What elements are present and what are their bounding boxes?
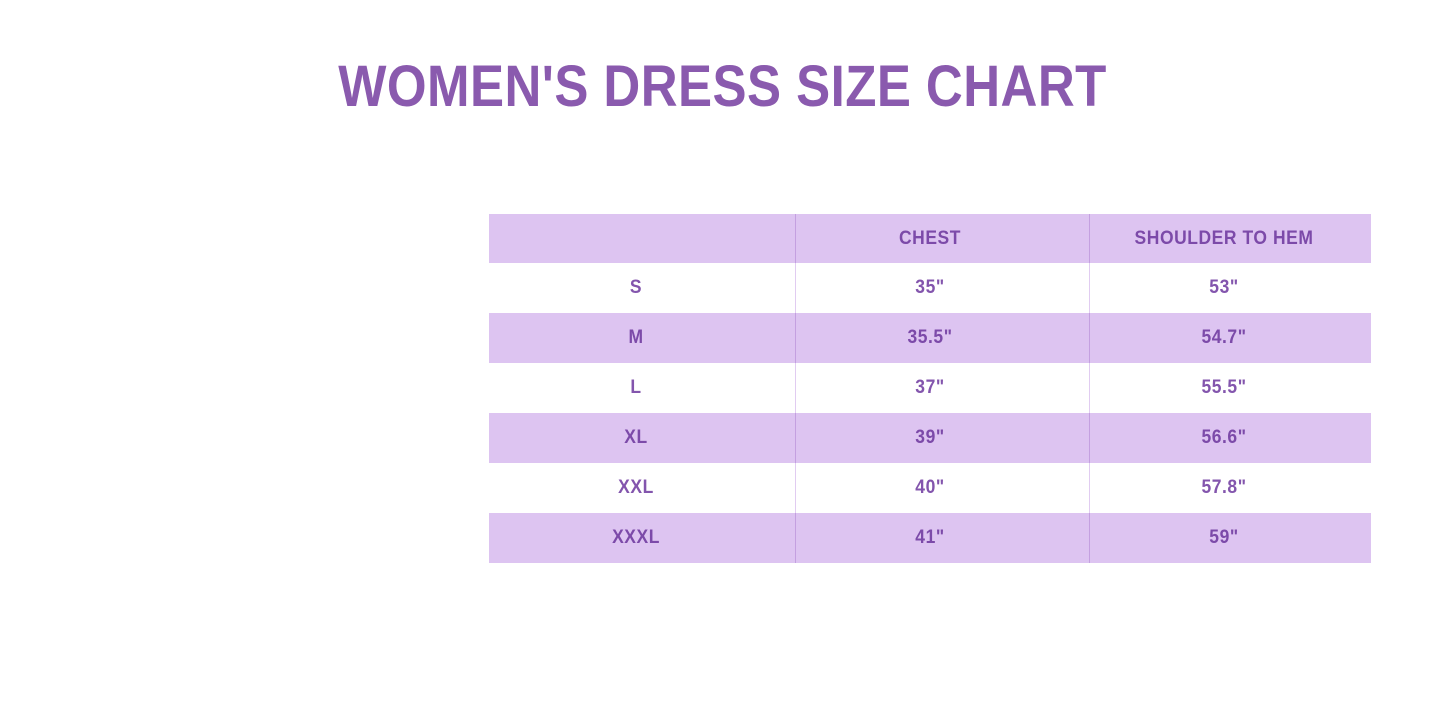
cell-size: XXXL xyxy=(501,513,771,563)
table-row: M 35.5" 54.7" xyxy=(489,313,1371,363)
page-title: WOMEN'S DRESS SIZE CHART xyxy=(87,56,1359,118)
cell-chest: 41" xyxy=(795,513,1065,563)
cell-size: L xyxy=(501,363,771,413)
cell-shoulder-to-hem: 56.6" xyxy=(1089,413,1359,463)
table-header-row: CHEST SHOULDER TO HEM xyxy=(489,214,1371,263)
table-row: L 37" 55.5" xyxy=(489,363,1371,413)
cell-shoulder-to-hem: 54.7" xyxy=(1089,313,1359,363)
table-row: XXXL 41" 59" xyxy=(489,513,1371,563)
cell-shoulder-to-hem: 55.5" xyxy=(1089,363,1359,413)
column-header-chest: CHEST xyxy=(795,214,1065,263)
cell-size: S xyxy=(501,263,771,313)
size-chart-table: CHEST SHOULDER TO HEM S 35" 53" M 35.5" … xyxy=(489,214,1371,563)
cell-shoulder-to-hem: 59" xyxy=(1089,513,1359,563)
column-header-shoulder-to-hem: SHOULDER TO HEM xyxy=(1089,214,1359,263)
table-body: S 35" 53" M 35.5" 54.7" L 37" 55.5" XL 3… xyxy=(489,263,1371,563)
cell-shoulder-to-hem: 53" xyxy=(1089,263,1359,313)
cell-chest: 39" xyxy=(795,413,1065,463)
table-header: CHEST SHOULDER TO HEM xyxy=(489,214,1371,263)
table-row: S 35" 53" xyxy=(489,263,1371,313)
cell-chest: 35" xyxy=(795,263,1065,313)
cell-size: XL xyxy=(501,413,771,463)
cell-chest: 37" xyxy=(795,363,1065,413)
table-row: XXL 40" 57.8" xyxy=(489,463,1371,513)
cell-shoulder-to-hem: 57.8" xyxy=(1089,463,1359,513)
cell-chest: 40" xyxy=(795,463,1065,513)
cell-chest: 35.5" xyxy=(795,313,1065,363)
cell-size: M xyxy=(501,313,771,363)
cell-size: XXL xyxy=(501,463,771,513)
column-header-size xyxy=(501,214,771,263)
table-row: XL 39" 56.6" xyxy=(489,413,1371,463)
